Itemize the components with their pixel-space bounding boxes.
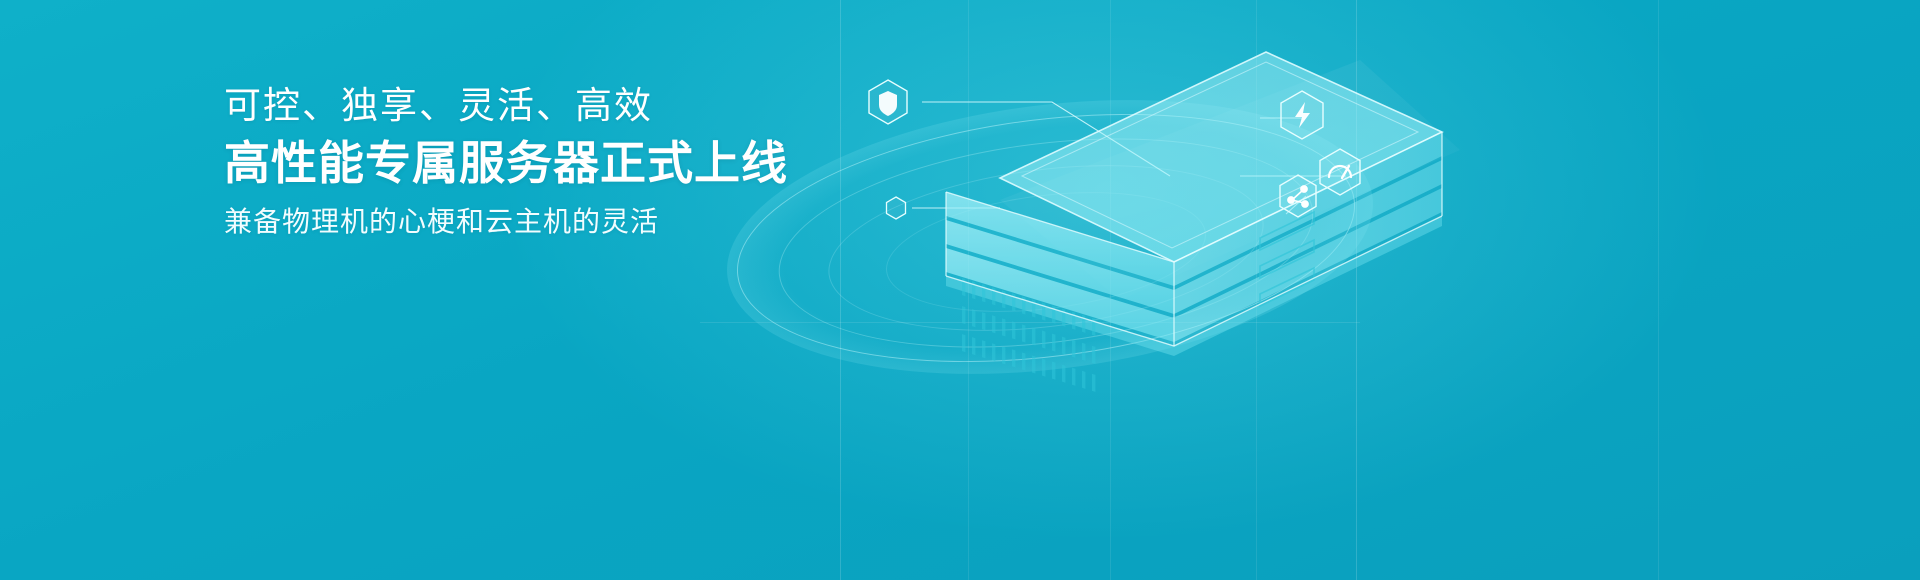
hero-headline: 高性能专属服务器正式上线 bbox=[224, 138, 1044, 190]
hero-subline: 兼备物理机的心梗和云主机的灵活 bbox=[224, 205, 1044, 239]
hero-copy: 可控、独享、灵活、高效 高性能专属服务器正式上线 兼备物理机的心梗和云主机的灵活 bbox=[224, 86, 1044, 239]
hero-banner: 可控、独享、灵活、高效 高性能专属服务器正式上线 兼备物理机的心梗和云主机的灵活 bbox=[0, 0, 1920, 580]
hero-kicker: 可控、独享、灵活、高效 bbox=[224, 86, 1044, 126]
